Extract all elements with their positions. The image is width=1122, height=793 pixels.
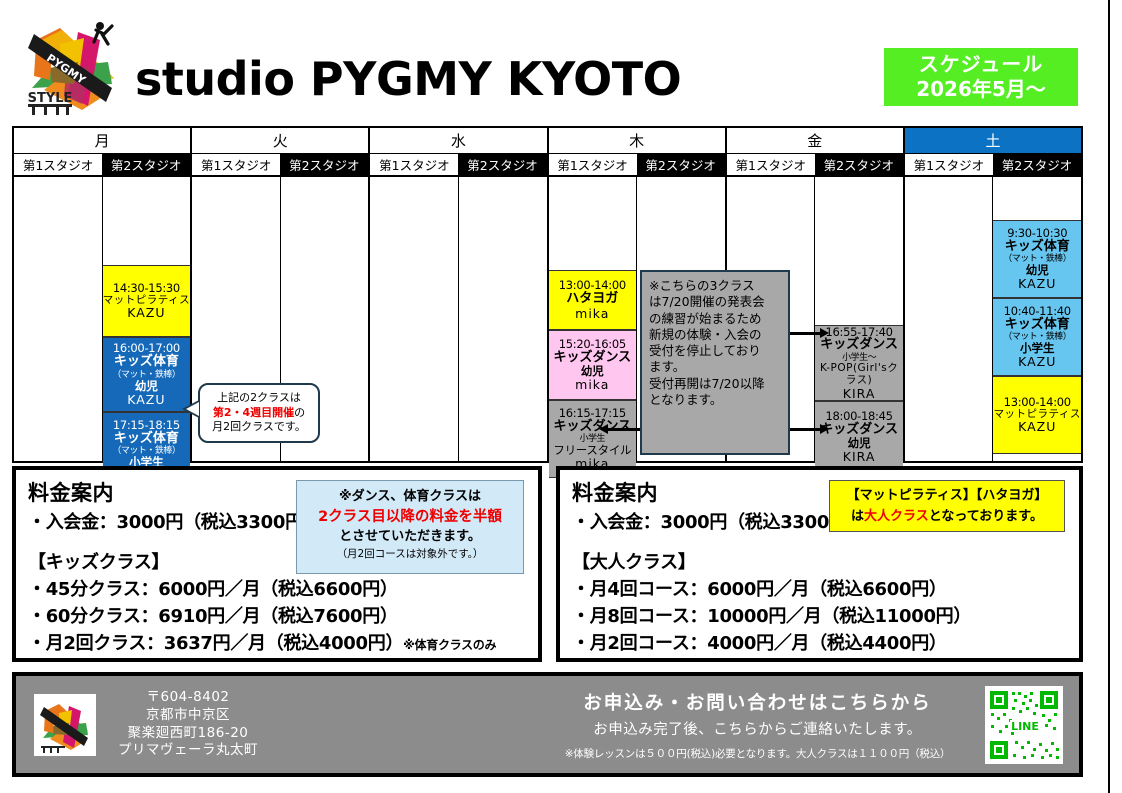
schedule-badge: スケジュール 2026年5月～ bbox=[884, 48, 1078, 106]
class-instructor: KAZU bbox=[127, 306, 165, 320]
class-block-fri-2[interactable]: 18:00-18:45 キッズダンス 幼児 KIRA bbox=[815, 401, 903, 473]
class-style: K-POP(Girl'sクラス) bbox=[815, 363, 903, 387]
class-name: ハタヨガ bbox=[566, 292, 618, 307]
suspension-note: ※こちらの3クラス は7/20開催の発表会 の練習が始まるため 新規の体験・入会… bbox=[640, 270, 790, 455]
wed-studio2-column bbox=[459, 177, 547, 461]
address-building: プリマヴェーラ丸太町 bbox=[118, 742, 258, 760]
mon-studio1-column bbox=[14, 177, 103, 461]
note-line-5: 受付を停止しており bbox=[649, 343, 783, 359]
class-instructor: KAZU bbox=[1018, 420, 1056, 434]
price-left-row-3-suffix: ※体育クラスのみ bbox=[403, 638, 496, 652]
studio1-header-thu: 第1スタジオ bbox=[549, 154, 637, 177]
class-time: 18:00-18:45 bbox=[826, 410, 893, 423]
studio1-header-sat: 第1スタジオ bbox=[905, 154, 993, 177]
day-header-fri: 金 bbox=[727, 128, 905, 154]
address-postal: 〒604-8402 bbox=[118, 689, 258, 707]
studio-group-thu: 第1スタジオ 第2スタジオ bbox=[549, 154, 727, 177]
half-price-note: ※ダンス、体育クラスは 2クラス目以降の料金を半額 とさせていただきます。 （月… bbox=[296, 480, 524, 574]
class-name: キッズダンス bbox=[553, 420, 631, 435]
header: PYGMY STYLE studio PYGMY KYOTO スケジュール bbox=[0, 0, 1108, 125]
price-left-row-1: ・45分クラス：6000円／月（税込6600円） bbox=[28, 575, 538, 601]
class-time: 13:00-14:00 bbox=[1004, 396, 1071, 409]
class-instructor: KAZU bbox=[1018, 355, 1056, 369]
studio-group-tue: 第1スタジオ 第2スタジオ bbox=[192, 154, 370, 177]
cta-subtitle: お申込み完了後、こちらからご連絡いたします。 bbox=[536, 718, 979, 739]
studio2-header-thu: 第2スタジオ bbox=[637, 154, 725, 177]
studio2-header-mon: 第2スタジオ bbox=[102, 154, 190, 177]
adult-note-pre: は bbox=[851, 509, 864, 524]
class-instructor: KIRA bbox=[843, 450, 876, 464]
class-instructor: mika bbox=[575, 307, 609, 321]
price-right-row-2: ・月8回コース：10000円／月（税込11000円） bbox=[572, 602, 1079, 628]
day-column-sat: 9:30-10:30 キッズ体育 （マット・鉄棒） 幼児 KAZU 10:40-… bbox=[905, 177, 1081, 461]
day-header-wed: 水 bbox=[370, 128, 548, 154]
class-block-mon-2[interactable]: 16:00-17:00 キッズ体育 （マット・鉄棒） 幼児 KAZU bbox=[103, 337, 191, 412]
studio-header-row: 第1スタジオ 第2スタジオ 第1スタジオ 第2スタジオ 第1スタジオ 第2スタジ… bbox=[14, 154, 1081, 177]
class-name: キッズ体育 bbox=[1005, 240, 1070, 255]
schedule-flyer: PYGMY STYLE studio PYGMY KYOTO スケジュール bbox=[0, 0, 1122, 793]
price-box-kids: 料金案内 ・入会金：3000円（税込3300円） 【キッズクラス】 ・45分クラ… bbox=[12, 466, 542, 662]
class-block-thu-1[interactable]: 13:00-14:00 ハタヨガ mika bbox=[549, 270, 637, 330]
adult-class-note: 【マットピラティス】【ハタヨガ】 は大人クラスとなっております。 bbox=[829, 480, 1065, 532]
studio-address: 〒604-8402 京都市中京区 聚楽廻西町186-20 プリマヴェーラ丸太町 bbox=[118, 689, 258, 760]
day-header-mon: 月 bbox=[14, 128, 192, 154]
page-edge-line bbox=[1108, 0, 1110, 793]
bubble-line-3: 月2回クラスです。 bbox=[212, 420, 306, 435]
day-header-tue: 火 bbox=[192, 128, 370, 154]
bubble-line-1: 上記の2クラスは bbox=[217, 391, 301, 406]
day-header-row: 月 火 水 木 金 土 bbox=[14, 128, 1081, 154]
line-qr-code[interactable]: LINE bbox=[985, 686, 1063, 764]
class-instructor: KAZU bbox=[127, 393, 165, 407]
class-block-thu-2[interactable]: 15:20-16:05 キッズダンス 幼児 mika bbox=[549, 330, 637, 400]
day-header-thu: 木 bbox=[549, 128, 727, 154]
footer-cta-text: お申込み・お問い合わせはこちらから お申込み完了後、こちらからご連絡いたします。… bbox=[536, 689, 985, 761]
pygmy-star-logo: PYGMY STYLE bbox=[16, 10, 128, 122]
studio1-header-tue: 第1スタジオ bbox=[192, 154, 280, 177]
studio2-header-wed: 第2スタジオ bbox=[458, 154, 546, 177]
bubble-line-2: 第2・4週目開催の bbox=[213, 406, 305, 421]
price-left-row-2: ・60分クラス：6910円／月（税込7600円） bbox=[28, 602, 538, 628]
sat-studio1-column bbox=[905, 177, 994, 461]
class-time: 17:15-18:15 bbox=[113, 419, 180, 432]
class-name: キッズ体育 bbox=[114, 355, 179, 370]
studio-group-fri: 第1スタジオ 第2スタジオ bbox=[727, 154, 905, 177]
monday-biweekly-note: 上記の2クラスは 第2・4週目開催の 月2回クラスです。 bbox=[198, 383, 320, 443]
class-block-mon-1[interactable]: 14:30-15:30 マットピラティス KAZU bbox=[103, 265, 191, 337]
note-line-2: は7/20開催の発表会 bbox=[649, 294, 783, 310]
class-time: 15:20-16:05 bbox=[559, 338, 626, 351]
day-column-mon: 14:30-15:30 マットピラティス KAZU 16:00-17:00 キッ… bbox=[14, 177, 192, 461]
note-line-4: 新規の体験・入会の bbox=[649, 327, 783, 343]
adult-note-post: となっております。 bbox=[929, 509, 1043, 524]
class-group: 幼児 bbox=[135, 380, 158, 393]
footer: 〒604-8402 京都市中京区 聚楽廻西町186-20 プリマヴェーラ丸太町 … bbox=[12, 672, 1083, 777]
day-column-wed bbox=[370, 177, 548, 461]
note-arrow-left-icon bbox=[608, 428, 640, 431]
class-block-sat-2[interactable]: 10:40-11:40 キッズ体育 （マット・鉄棒） 小学生 KAZU bbox=[993, 298, 1081, 376]
class-time: 9:30-10:30 bbox=[1007, 227, 1067, 240]
note-line-7: 受付再開は7/20以降 bbox=[649, 376, 783, 392]
note-arrow-right-2-icon bbox=[790, 428, 820, 431]
cta-title: お申込み・お問い合わせはこちらから bbox=[536, 689, 979, 715]
studio2-header-fri: 第2スタジオ bbox=[815, 154, 903, 177]
half-price-line-1: ※ダンス、体育クラスは bbox=[297, 488, 523, 507]
price-right-row-1: ・月4回コース：6000円／月（税込6600円） bbox=[572, 575, 1079, 601]
page-title: studio PYGMY KYOTO bbox=[135, 52, 681, 106]
bubble-line-2-red: 第2・4週目開催 bbox=[213, 406, 294, 419]
price-left-row-3-main: ・月2回クラス：3637円／月（税込4000円） bbox=[28, 633, 403, 654]
studio-group-wed: 第1スタジオ 第2スタジオ bbox=[370, 154, 548, 177]
mon-studio2-column: 14:30-15:30 マットピラティス KAZU 16:00-17:00 キッ… bbox=[103, 177, 191, 461]
note-line-8: となります。 bbox=[649, 392, 783, 408]
adult-note-line-2: は大人クラスとなっております。 bbox=[830, 507, 1064, 528]
class-name: キッズ体育 bbox=[114, 432, 179, 447]
adult-note-red: 大人クラス bbox=[864, 509, 929, 524]
adult-note-line-1: 【マットピラティス】【ハタヨガ】 bbox=[830, 486, 1064, 507]
note-line-6: ます。 bbox=[649, 359, 783, 375]
sat-studio2-column: 9:30-10:30 キッズ体育 （マット・鉄棒） 幼児 KAZU 10:40-… bbox=[993, 177, 1081, 461]
class-instructor: KAZU bbox=[1018, 277, 1056, 291]
day-header-sat: 土 bbox=[905, 128, 1081, 154]
footer-pygmy-logo bbox=[34, 694, 96, 756]
class-name: キッズダンス bbox=[820, 338, 898, 353]
half-price-line-3: とさせていただきます。 bbox=[297, 528, 523, 547]
studio-group-mon: 第1スタジオ 第2スタジオ bbox=[14, 154, 192, 177]
bubble-tail-fill bbox=[186, 402, 199, 416]
class-time: 10:40-11:40 bbox=[1004, 305, 1071, 318]
cta-note: ※体験レッスンは５００円(税込)必要となります。大人クラスは１１００円（税込） bbox=[536, 746, 979, 761]
class-instructor: KIRA bbox=[843, 387, 876, 401]
studio1-header-fri: 第1スタジオ bbox=[727, 154, 815, 177]
badge-line-1: スケジュール bbox=[919, 52, 1044, 77]
bubble-line-2-tail: の bbox=[294, 406, 305, 419]
studio1-header-mon: 第1スタジオ bbox=[14, 154, 102, 177]
badge-line-2: 2026年5月～ bbox=[916, 77, 1046, 102]
thu-studio1-column: 13:00-14:00 ハタヨガ mika 15:20-16:05 キッズダンス… bbox=[549, 177, 638, 461]
price-right-section: 【大人クラス】 bbox=[572, 548, 1079, 574]
price-box-adult: 料金案内 ・入会金：3000円（税込3300円） 【大人クラス】 ・月4回コース… bbox=[556, 466, 1083, 662]
address-city: 京都市中京区 bbox=[118, 707, 258, 725]
fri-studio2-column: 16:55-17:40 キッズダンス 小学生～ K-POP(Girl'sクラス)… bbox=[815, 177, 903, 461]
svg-text:STYLE: STYLE bbox=[28, 91, 73, 106]
price-right-row-3: ・月2回コース：4000円／月（税込4400円） bbox=[572, 629, 1079, 655]
note-line-3: の練習が始まるため bbox=[649, 311, 783, 327]
footer-inner: 〒604-8402 京都市中京区 聚楽廻西町186-20 プリマヴェーラ丸太町 … bbox=[16, 676, 1079, 773]
class-block-sat-3[interactable]: 13:00-14:00 マットピラティス KAZU bbox=[993, 376, 1081, 454]
schedule-grid: 月 火 水 木 金 土 第1スタジオ 第2スタジオ 第1スタジオ 第2スタジオ … bbox=[12, 126, 1083, 463]
class-time: 16:15-17:15 bbox=[559, 407, 626, 420]
half-price-line-4: （月2回コースは対象外です。） bbox=[297, 547, 523, 562]
qr-line-label: LINE bbox=[1011, 720, 1039, 733]
class-time: 14:30-15:30 bbox=[113, 282, 180, 295]
class-block-sat-1[interactable]: 9:30-10:30 キッズ体育 （マット・鉄棒） 幼児 KAZU bbox=[993, 220, 1081, 298]
class-name: キッズ体育 bbox=[1005, 318, 1070, 333]
class-name: キッズダンス bbox=[553, 351, 631, 366]
wed-studio1-column bbox=[370, 177, 459, 461]
class-name: キッズダンス bbox=[820, 423, 898, 438]
studio1-header-wed: 第1スタジオ bbox=[370, 154, 458, 177]
address-street: 聚楽廻西町186-20 bbox=[118, 725, 258, 743]
half-price-line-2: 2クラス目以降の料金を半額 bbox=[297, 507, 523, 528]
footer-contact-block: お申込み・お問い合わせはこちらから お申込み完了後、こちらからご連絡いたします。… bbox=[536, 676, 1079, 773]
note-arrow-right-1-icon bbox=[790, 332, 820, 335]
footer-address-block: 〒604-8402 京都市中京区 聚楽廻西町186-20 プリマヴェーラ丸太町 bbox=[16, 676, 536, 773]
class-instructor: mika bbox=[575, 378, 609, 392]
studio2-header-tue: 第2スタジオ bbox=[280, 154, 368, 177]
studio-group-sat: 第1スタジオ 第2スタジオ bbox=[905, 154, 1081, 177]
schedule-body-row: 14:30-15:30 マットピラティス KAZU 16:00-17:00 キッ… bbox=[14, 177, 1081, 461]
note-line-1: ※こちらの3クラス bbox=[649, 278, 783, 294]
price-left-row-3: ・月2回クラス：3637円／月（税込4000円）※体育クラスのみ bbox=[28, 629, 538, 655]
studio2-header-sat: 第2スタジオ bbox=[993, 154, 1081, 177]
